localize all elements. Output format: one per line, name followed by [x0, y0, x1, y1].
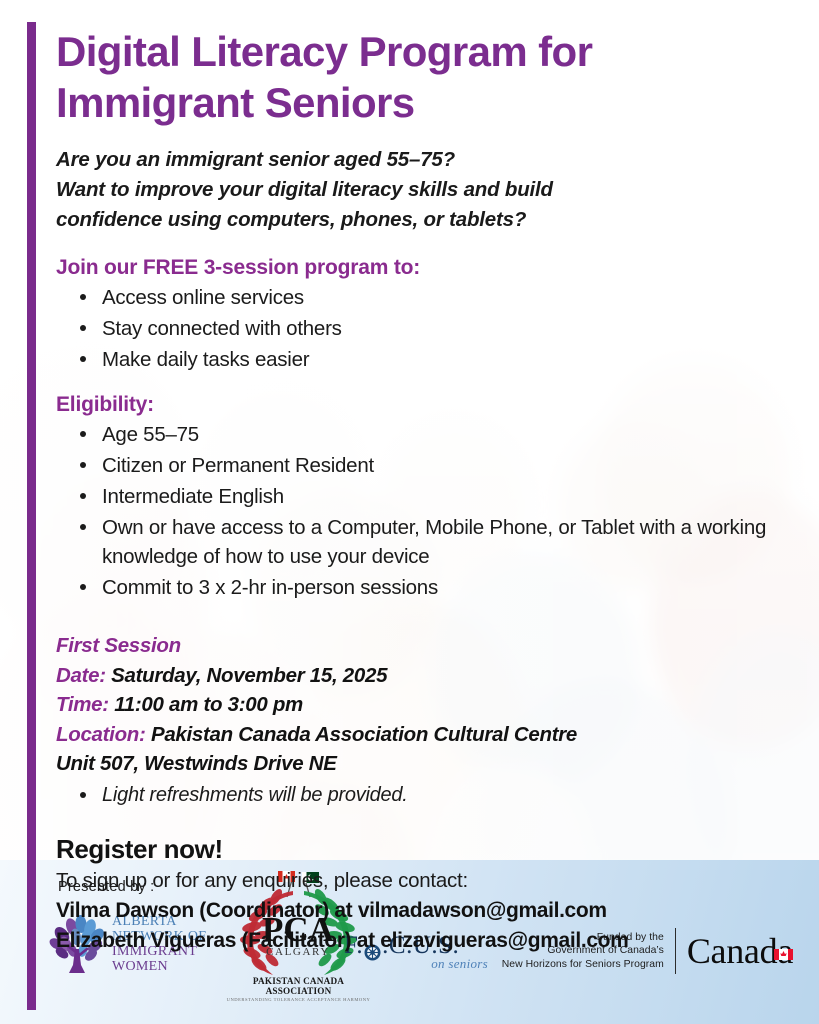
refreshments-list: Light refreshments will be provided.	[56, 781, 795, 809]
poster-subheading: Are you an immigrant senior aged 55–75? …	[56, 145, 716, 235]
subheading-line-1: Are you an immigrant senior aged 55–75?	[56, 145, 716, 175]
join-program-list: Access online services Stay connected wi…	[56, 283, 795, 374]
poster-content: Digital Literacy Program for Immigrant S…	[56, 0, 795, 955]
session-address-row: Unit 507, Westwinds Drive NE	[56, 749, 795, 779]
first-session-block: First Session Date: Saturday, November 1…	[56, 631, 795, 779]
list-item: Make daily tasks easier	[76, 345, 776, 374]
list-item: Stay connected with others	[76, 314, 776, 343]
list-item: Citizen or Permanent Resident	[76, 451, 776, 480]
time-value: 11:00 am to 3:00 pm	[114, 693, 303, 716]
date-label: Date:	[56, 664, 106, 687]
first-session-heading: First Session	[56, 631, 795, 661]
poster-canvas: Digital Literacy Program for Immigrant S…	[0, 0, 819, 1024]
location-label: Location:	[56, 723, 146, 746]
session-time-row: Time: 11:00 am to 3:00 pm	[56, 690, 795, 720]
time-label: Time:	[56, 693, 109, 716]
session-location-row: Location: Pakistan Canada Association Cu…	[56, 720, 795, 750]
location-value: Pakistan Canada Association Cultural Cen…	[151, 723, 577, 746]
register-subtext: To sign up or for any enquiries, please …	[56, 869, 795, 893]
contact-coordinator: Vilma Dawson (Coordinator) at vilmadawso…	[56, 897, 795, 926]
subheading-line-3: confidence using computers, phones, or t…	[56, 205, 716, 235]
eligibility-heading: Eligibility:	[56, 393, 795, 417]
contact-facilitator: Elizabeth Vigueras (Facilitator) at eliz…	[56, 927, 795, 956]
date-value: Saturday, November 15, 2025	[111, 664, 387, 687]
page-title: Digital Literacy Program for Immigrant S…	[56, 26, 696, 128]
address-value: Unit 507, Westwinds Drive NE	[56, 752, 337, 775]
register-now-heading: Register now!	[56, 834, 795, 865]
session-date-row: Date: Saturday, November 15, 2025	[56, 661, 795, 691]
left-accent-bar	[27, 22, 36, 1010]
list-item: Access online services	[76, 283, 776, 312]
list-item: Own or have access to a Computer, Mobile…	[76, 513, 776, 571]
subheading-line-2: Want to improve your digital literacy sk…	[56, 175, 716, 205]
list-item: Age 55–75	[76, 420, 776, 449]
list-item: Intermediate English	[76, 482, 776, 511]
list-item: Light refreshments will be provided.	[76, 781, 776, 809]
list-item: Commit to 3 x 2-hr in-person sessions	[76, 573, 776, 602]
join-program-heading: Join our FREE 3-session program to:	[56, 256, 795, 280]
eligibility-list: Age 55–75 Citizen or Permanent Resident …	[56, 420, 795, 603]
